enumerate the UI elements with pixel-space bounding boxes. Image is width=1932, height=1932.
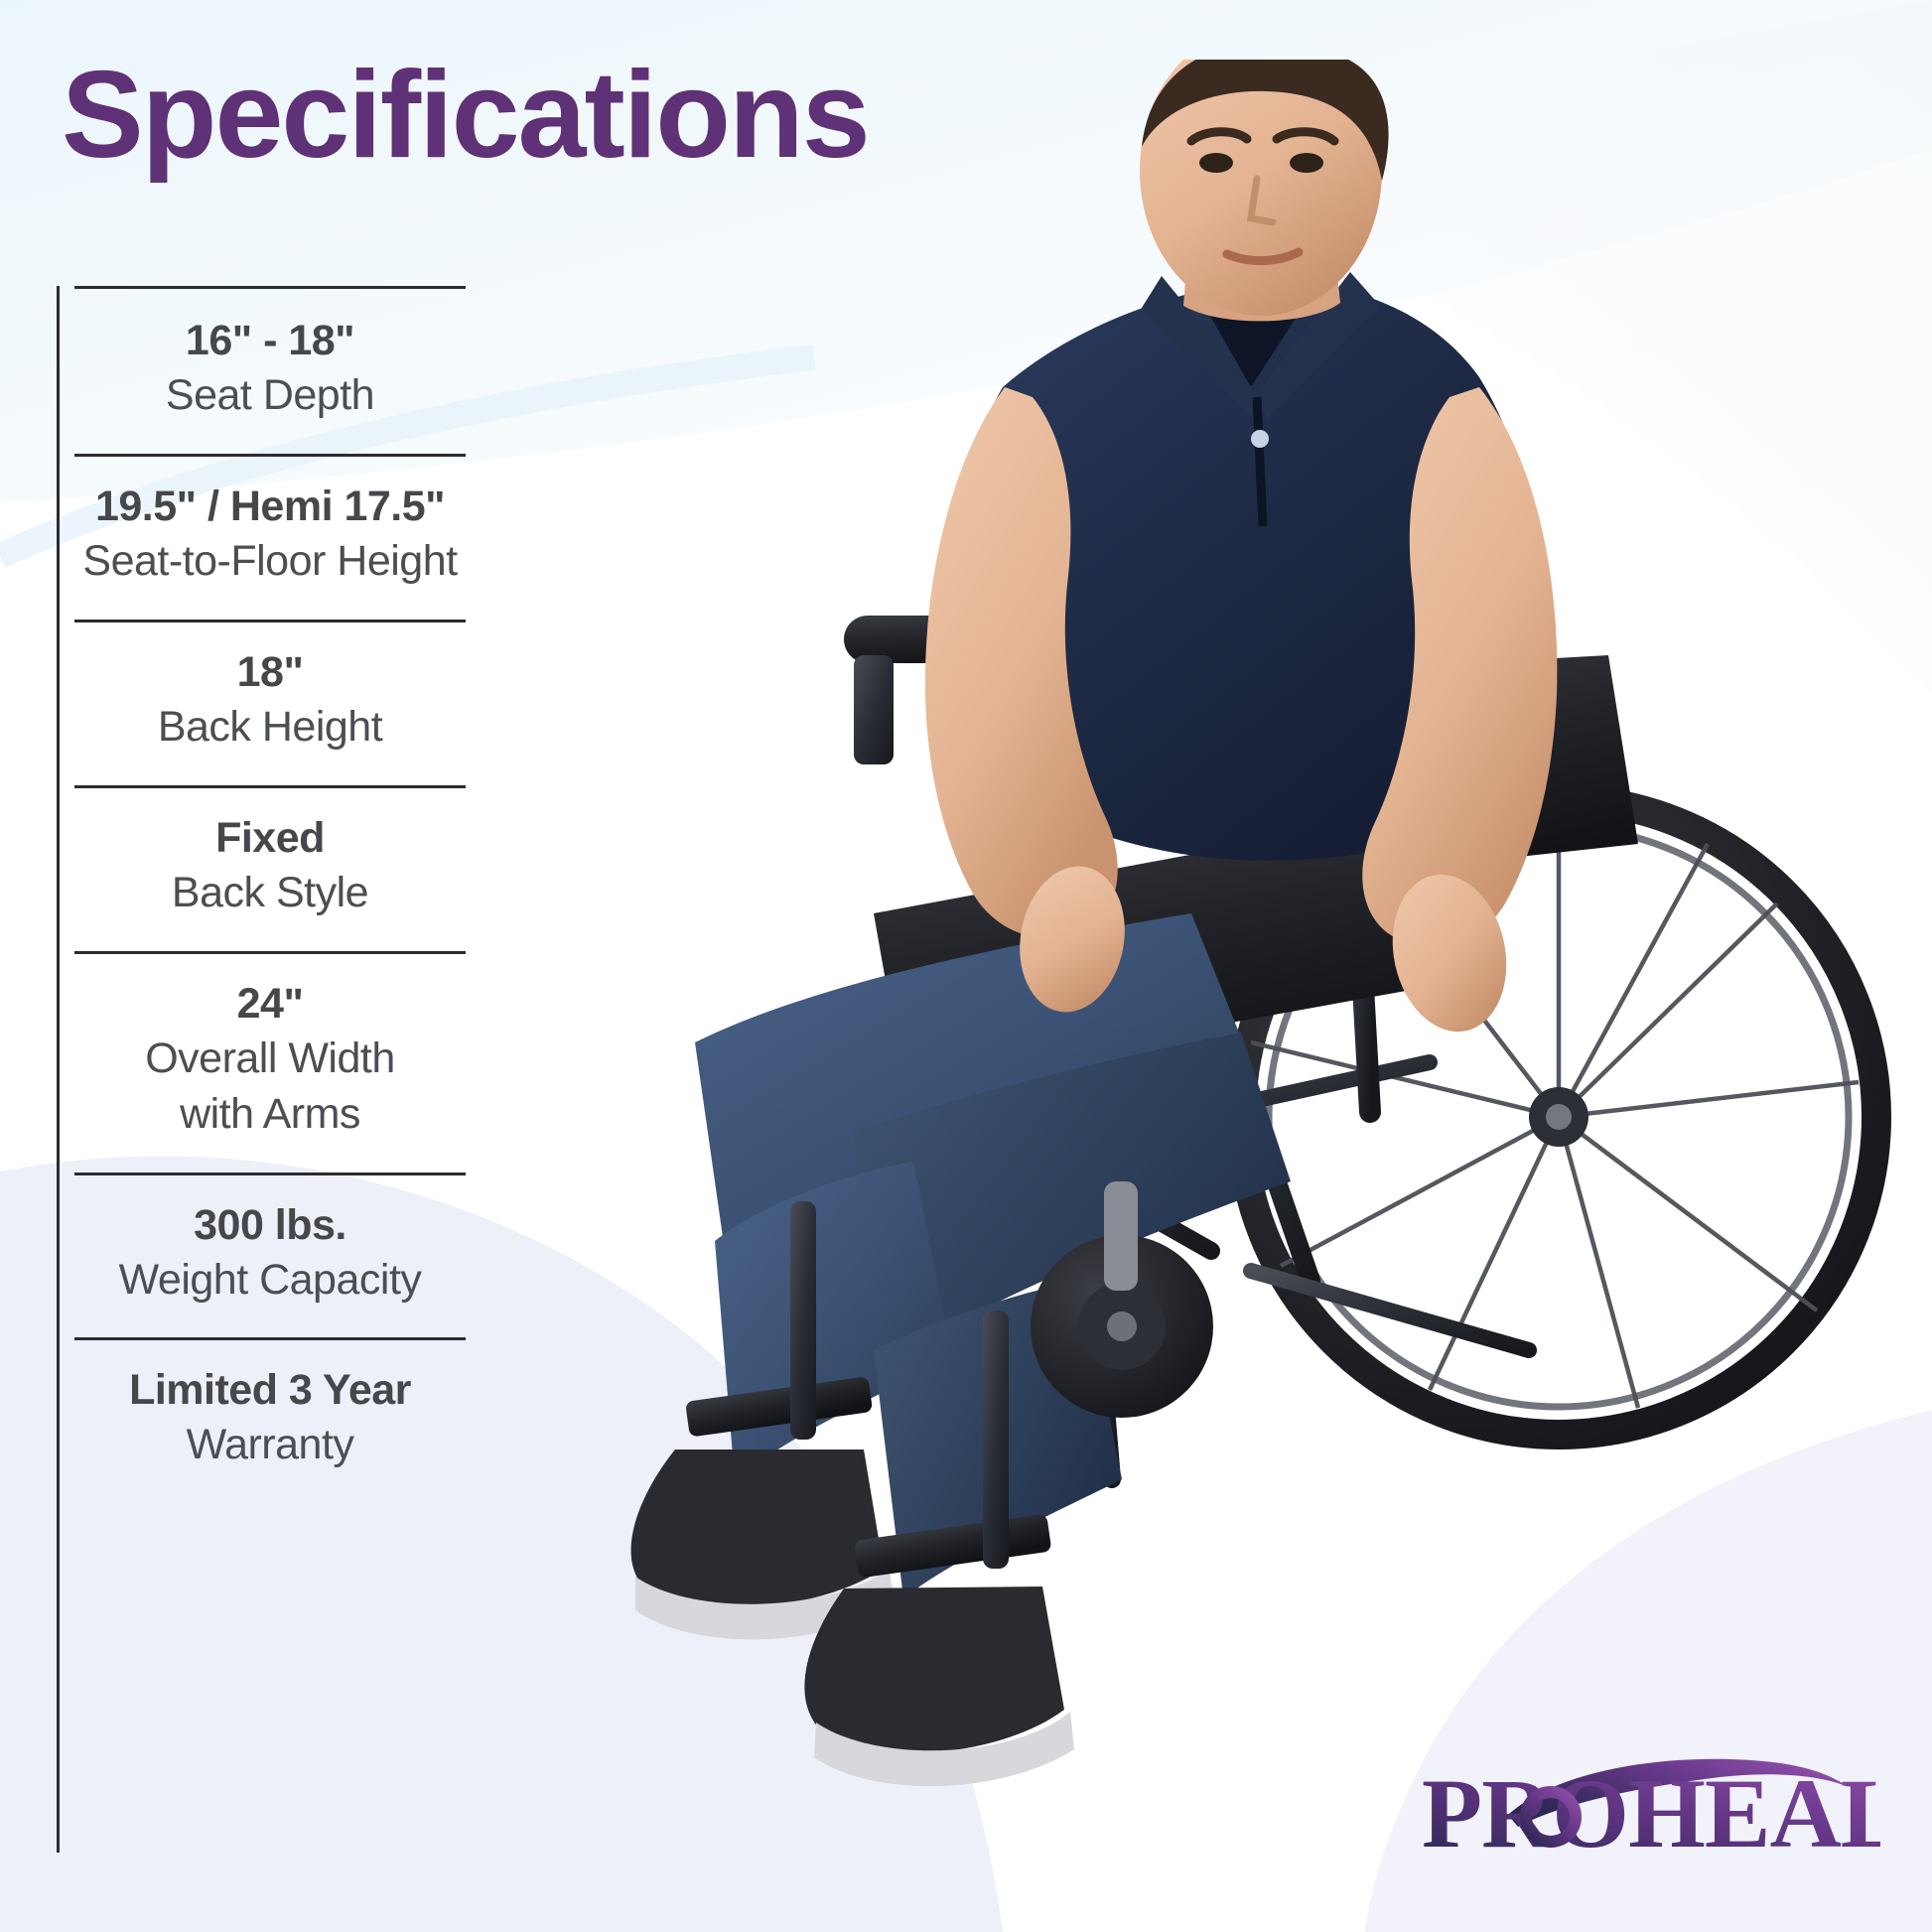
spec-row-back-style: Fixed Back Style	[74, 785, 466, 951]
proheal-logo-svg: PROHEAL	[1414, 1731, 1880, 1880]
spec-label: Back Height	[74, 700, 466, 756]
eye-left	[1199, 153, 1233, 173]
spec-value: 16" - 18"	[74, 314, 466, 368]
spec-label: Back Style	[74, 866, 466, 921]
eye-right	[1290, 153, 1323, 173]
spec-row-seat-depth: 16" - 18" Seat Depth	[74, 286, 466, 454]
spec-label: Warranty	[74, 1418, 466, 1473]
page-title: Specifications	[62, 48, 869, 183]
spec-row-seat-to-floor-height: 19.5" / Hemi 17.5" Seat-to-Floor Height	[74, 454, 466, 620]
spec-row-back-height: 18" Back Height	[74, 620, 466, 785]
spec-value: 24"	[74, 977, 466, 1032]
spec-list: 16" - 18" Seat Depth 19.5" / Hemi 17.5" …	[74, 286, 466, 1503]
product-photo-wheelchair-user	[556, 60, 1932, 1837]
spec-label: Seat-to-Floor Height	[74, 534, 466, 590]
spec-divider	[74, 951, 466, 954]
spec-value: 19.5" / Hemi 17.5"	[74, 480, 466, 534]
spec-row-weight-capacity: 300 lbs. Weight Capacity	[74, 1173, 466, 1338]
spec-value: 18"	[74, 645, 466, 700]
spec-divider	[74, 1173, 466, 1175]
proheal-logo: PROHEAL	[1414, 1731, 1880, 1880]
shoe-right	[804, 1587, 1074, 1786]
spec-value: 300 lbs.	[74, 1198, 466, 1253]
spec-label: Seat Depth	[74, 368, 466, 424]
spec-value: Fixed	[74, 811, 466, 866]
proheal-wordmark: PROHEAL	[1422, 1758, 1880, 1868]
spec-divider	[74, 1337, 466, 1340]
spec-row-overall-width: 24" Overall Width with Arms	[74, 951, 466, 1173]
spec-divider	[74, 286, 466, 289]
spec-divider	[74, 620, 466, 622]
spec-vertical-rule	[57, 286, 60, 1853]
placket	[1257, 397, 1263, 526]
spec-divider	[74, 785, 466, 788]
spec-value: Limited 3 Year	[74, 1363, 466, 1418]
spec-row-warranty: Limited 3 Year Warranty	[74, 1337, 466, 1503]
spec-label: Overall Width with Arms	[74, 1032, 466, 1143]
shirt-button	[1251, 430, 1269, 448]
spec-divider	[74, 454, 466, 457]
spec-label: Weight Capacity	[74, 1253, 466, 1309]
